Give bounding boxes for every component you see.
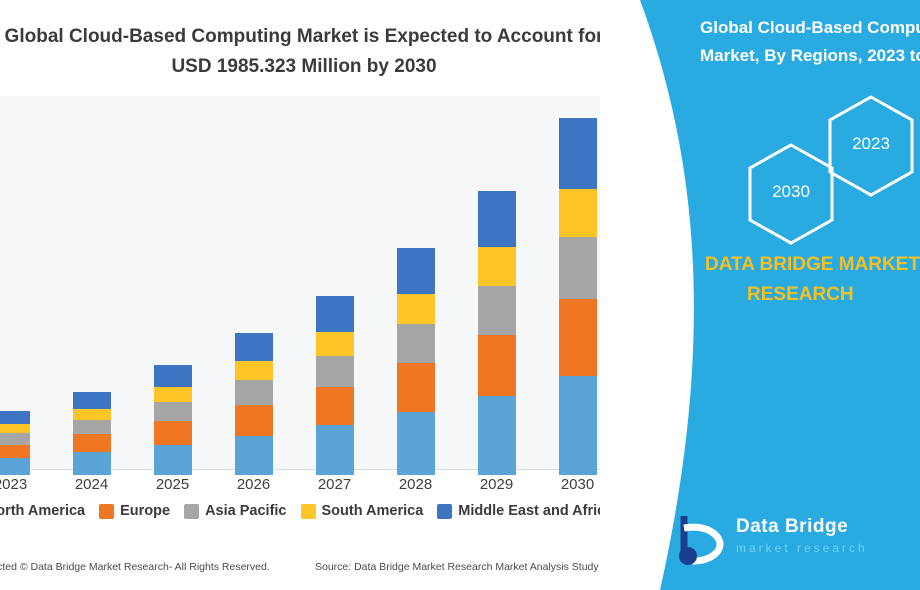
chart-region: DATA BRIDGE MARKET RESEARCH Global Cloud…	[0, 0, 640, 590]
segment-asia-pacific	[73, 420, 111, 435]
chart-legend: North AmericaEuropeAsia PacificSouth Ame…	[0, 503, 614, 519]
footer: Protected © Data Bridge Market Research-…	[0, 555, 640, 585]
segment-europe	[397, 363, 435, 411]
segment-middle-east-and-africa	[235, 333, 273, 361]
segment-asia-pacific	[0, 433, 30, 444]
legend-swatch	[184, 504, 199, 519]
legend-label: Asia Pacific	[205, 503, 286, 519]
segment-europe	[0, 445, 30, 459]
bar-2026	[235, 333, 273, 475]
segment-south-america	[235, 361, 273, 380]
legend-swatch	[301, 504, 316, 519]
segment-south-america	[0, 424, 30, 433]
legend-label: South America	[322, 503, 424, 519]
legend-item-middle-east-and-africa: Middle East and Africa	[437, 503, 613, 519]
segment-middle-east-and-africa	[559, 118, 597, 189]
segment-north-america	[559, 376, 597, 475]
footer-source: Source: Data Bridge Market Research Mark…	[315, 561, 625, 573]
segment-asia-pacific	[235, 380, 273, 405]
x-label-2025: 2025	[136, 476, 210, 493]
brand-text: DATA BRIDGE MARKET RESEARCH	[705, 250, 920, 310]
segment-europe	[559, 299, 597, 376]
segment-south-america	[73, 409, 111, 420]
segment-middle-east-and-africa	[397, 248, 435, 293]
x-label-2023: 2023	[0, 476, 48, 493]
legend-swatch	[99, 504, 114, 519]
panel-title: Global Cloud-Based Computing Market, By …	[700, 14, 920, 70]
x-label-2024: 2024	[55, 476, 129, 493]
data-bridge-logo-icon	[672, 512, 726, 566]
segment-middle-east-and-africa	[478, 191, 516, 247]
segment-middle-east-and-africa	[73, 392, 111, 409]
segment-north-america	[154, 445, 192, 475]
x-label-2029: 2029	[460, 476, 534, 493]
x-label-2027: 2027	[298, 476, 372, 493]
segment-south-america	[397, 294, 435, 324]
segment-south-america	[559, 189, 597, 237]
legend-item-asia-pacific: Asia Pacific	[184, 503, 286, 519]
footer-copyright: Protected © Data Bridge Market Research-…	[0, 561, 270, 573]
segment-asia-pacific	[154, 402, 192, 421]
segment-north-america	[73, 452, 111, 475]
bar-2025	[154, 365, 192, 475]
segment-europe	[235, 405, 273, 435]
brand-line-2: RESEARCH	[705, 280, 920, 310]
segment-asia-pacific	[316, 356, 354, 388]
bar-2024	[73, 392, 111, 475]
segment-europe	[154, 421, 192, 445]
x-label-2028: 2028	[379, 476, 453, 493]
hexagon-2023-label: 2023	[825, 134, 917, 154]
segment-middle-east-and-africa	[0, 411, 30, 425]
legend-swatch	[437, 504, 452, 519]
logo-name: Data Bridge	[736, 516, 848, 538]
segment-europe	[316, 387, 354, 425]
segment-south-america	[316, 332, 354, 356]
legend-label: Europe	[120, 503, 170, 519]
stacked-bar-chart: 20232024202520262027202820292030	[0, 96, 618, 476]
legend-label: Middle East and Africa	[458, 503, 613, 519]
legend-item-north-america: North America	[0, 503, 85, 519]
brand-line-1: DATA BRIDGE MARKET	[705, 250, 920, 280]
bar-2027	[316, 296, 354, 475]
segment-europe	[73, 434, 111, 452]
page-title: Global Cloud-Based Computing Market is E…	[0, 22, 624, 82]
hexagon-2030-label: 2030	[745, 182, 837, 202]
segment-middle-east-and-africa	[154, 365, 192, 388]
logo-tagline: market research	[736, 541, 868, 555]
bar-2028	[397, 248, 435, 475]
segment-asia-pacific	[397, 324, 435, 363]
segment-north-america	[316, 425, 354, 475]
legend-item-south-america: South America	[301, 503, 424, 519]
bar-2023	[0, 411, 30, 475]
company-logo: Data Bridge market research	[672, 510, 912, 570]
segment-north-america	[397, 412, 435, 475]
legend-item-europe: Europe	[99, 503, 170, 519]
segment-europe	[478, 335, 516, 396]
segment-north-america	[235, 436, 273, 475]
hexagon-2023: 2023	[825, 94, 917, 198]
segment-asia-pacific	[478, 286, 516, 336]
legend-label: North America	[0, 503, 85, 519]
bar-2029	[478, 191, 516, 475]
segment-middle-east-and-africa	[316, 296, 354, 332]
x-label-2026: 2026	[217, 476, 291, 493]
segment-asia-pacific	[559, 237, 597, 299]
right-info-panel: Global Cloud-Based Computing Market, By …	[600, 0, 920, 590]
segment-south-america	[154, 387, 192, 402]
screenshot-root: DATA BRIDGE MARKET RESEARCH Global Cloud…	[0, 0, 920, 590]
hexagon-badges: 2030 2023	[745, 112, 920, 212]
segment-north-america	[0, 458, 30, 475]
bar-2030	[559, 118, 597, 475]
hexagon-2030: 2030	[745, 142, 837, 246]
segment-south-america	[478, 247, 516, 285]
segment-north-america	[478, 396, 516, 475]
